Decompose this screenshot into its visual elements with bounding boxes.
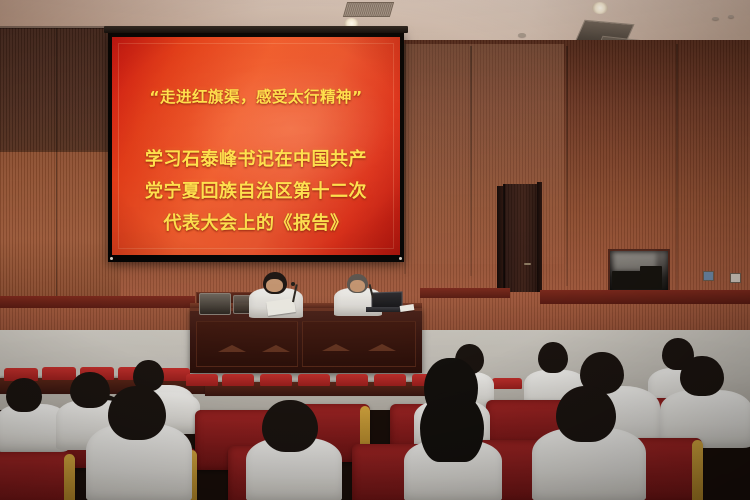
door-frame bbox=[537, 182, 542, 292]
attendee-head bbox=[70, 372, 110, 408]
screen-corner-grommet bbox=[399, 257, 402, 260]
microphone-icon bbox=[291, 282, 295, 286]
seat-far-row[interactable] bbox=[260, 374, 292, 386]
podium-chevron-ornament bbox=[322, 344, 350, 351]
speaker-right-face bbox=[350, 280, 365, 292]
smoke-detector-icon bbox=[712, 17, 719, 20]
auditorium-seat-front[interactable] bbox=[0, 452, 74, 500]
seat-far-row[interactable] bbox=[374, 374, 406, 386]
ceiling-air-vent bbox=[343, 2, 394, 17]
door-handle-icon[interactable] bbox=[524, 263, 531, 265]
slide-body-line-1: 学习石泰峰书记在中国共产 bbox=[112, 145, 400, 171]
screen-corner-grommet bbox=[110, 257, 113, 260]
attendee-hair bbox=[420, 392, 484, 462]
smoke-detector-icon bbox=[728, 15, 734, 18]
seat-far-row[interactable] bbox=[298, 374, 330, 386]
slide-body-line-3: 代表大会上的《报告》 bbox=[112, 209, 400, 235]
podium-front-panel bbox=[302, 321, 416, 367]
seat-far-row[interactable] bbox=[222, 374, 254, 386]
wall-outlet-plate[interactable] bbox=[730, 273, 741, 283]
desk-monitor bbox=[199, 293, 231, 315]
conference-hall-photo: “走进红旗渠，感受太行精神” 学习石泰峰书记在中国共产 党宁夏回族自治区第十二次… bbox=[0, 0, 750, 500]
speaker-left-face bbox=[266, 279, 283, 292]
wall-switch-plate[interactable] bbox=[703, 271, 714, 281]
wall-baseboard bbox=[0, 296, 195, 308]
slide-headline: “走进红旗渠，感受太行精神” bbox=[112, 85, 400, 107]
left-wall-seam bbox=[56, 28, 57, 298]
booth-equipment bbox=[640, 266, 662, 275]
attendee-head bbox=[262, 400, 318, 452]
podium-chevron-ornament bbox=[262, 345, 290, 352]
slide-body-line-2: 党宁夏回族自治区第十二次 bbox=[112, 177, 400, 203]
laptop-keyboard[interactable] bbox=[366, 307, 402, 312]
left-wall-upper-panel bbox=[0, 28, 120, 154]
wall-panel-seam bbox=[470, 46, 472, 276]
ceiling-downlight bbox=[592, 2, 608, 14]
podium-chevron-ornament bbox=[218, 345, 246, 352]
attendee-head bbox=[108, 386, 166, 440]
attendee-head bbox=[538, 342, 568, 373]
attendee-head bbox=[6, 378, 42, 412]
podium-front-panel bbox=[196, 321, 298, 367]
seat-far-row[interactable] bbox=[186, 374, 218, 386]
podium-table bbox=[190, 308, 422, 373]
wall-panel-seam bbox=[404, 44, 406, 274]
projected-slide: “走进红旗渠，感受太行精神” 学习石泰峰书记在中国共产 党宁夏回族自治区第十二次… bbox=[112, 37, 400, 255]
seat-far-row[interactable] bbox=[42, 367, 76, 380]
seat-far-row[interactable] bbox=[336, 374, 368, 386]
left-wall-lower-panel bbox=[0, 150, 120, 298]
seat-far-row[interactable] bbox=[492, 378, 522, 389]
projection-screen: “走进红旗渠，感受太行精神” 学习石泰峰书记在中国共产 党宁夏回族自治区第十二次… bbox=[108, 32, 404, 262]
attendee-head bbox=[556, 386, 616, 442]
hall-door[interactable] bbox=[503, 184, 541, 292]
seat-armrest-trim bbox=[64, 454, 75, 500]
podium-chevron-ornament bbox=[368, 344, 396, 351]
left-wall-seam bbox=[0, 150, 120, 152]
smoke-detector-icon bbox=[518, 33, 526, 37]
wall-panel-seam bbox=[566, 46, 568, 286]
wall-baseboard bbox=[420, 288, 510, 298]
seat-armrest-trim bbox=[692, 440, 703, 500]
attendee-head bbox=[680, 356, 724, 396]
wall-panel-seam bbox=[676, 44, 678, 294]
wall-baseboard bbox=[540, 290, 750, 304]
